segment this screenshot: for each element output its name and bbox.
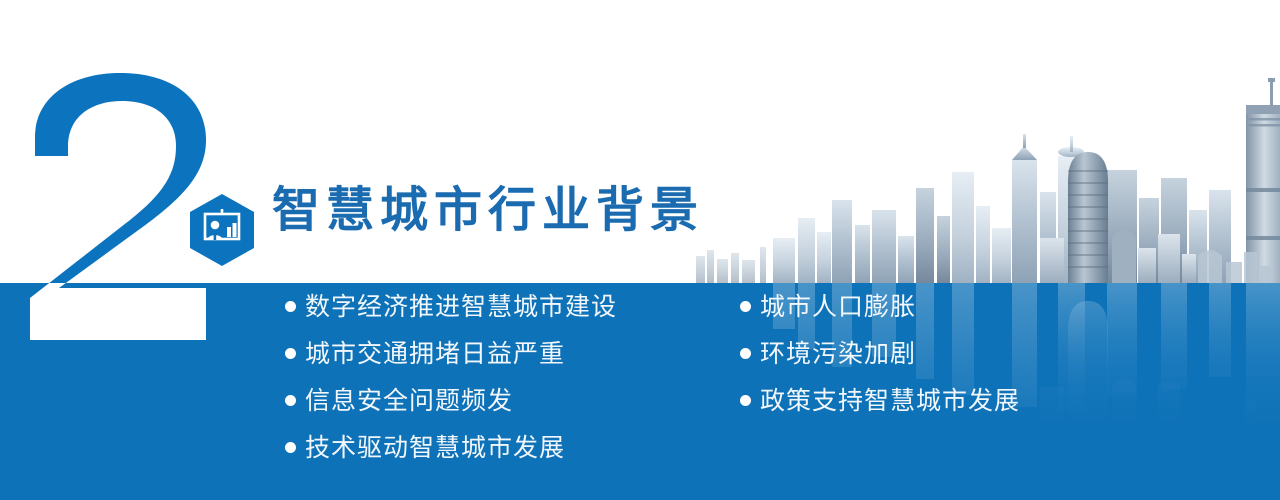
list-item[interactable]: 政策支持智慧城市发展 bbox=[740, 377, 1020, 424]
list-item-label: 政策支持智慧城市发展 bbox=[760, 388, 1020, 413]
bullet-dot-icon bbox=[285, 301, 296, 312]
list-item-label: 数字经济推进智慧城市建设 bbox=[305, 294, 617, 319]
list-item[interactable]: 技术驱动智慧城市发展 bbox=[285, 424, 617, 471]
bullet-dot-icon bbox=[285, 442, 296, 453]
list-item[interactable]: 城市交通拥堵日益严重 bbox=[285, 330, 617, 377]
bullet-dot-icon bbox=[285, 348, 296, 359]
list-item-label: 信息安全问题频发 bbox=[305, 388, 513, 413]
section-badge bbox=[186, 192, 258, 268]
list-item-label: 城市人口膨胀 bbox=[760, 294, 916, 319]
list-item-label: 技术驱动智慧城市发展 bbox=[305, 435, 565, 460]
bullet-dot-icon bbox=[740, 348, 751, 359]
bullet-column-right: 城市人口膨胀 环境污染加剧 政策支持智慧城市发展 bbox=[740, 283, 1020, 424]
list-item[interactable]: 环境污染加剧 bbox=[740, 330, 1020, 377]
city-skyline-silhouette bbox=[690, 60, 1280, 284]
list-item[interactable]: 数字经济推进智慧城市建设 bbox=[285, 283, 617, 330]
slide-canvas: 智慧城市行业背景 数字经济推进智慧城市建设 城市交通拥堵日益严重 信息安全问题频… bbox=[0, 0, 1280, 500]
list-item[interactable]: 城市人口膨胀 bbox=[740, 283, 1020, 330]
city-skyline-right-cluster bbox=[1040, 130, 1280, 284]
list-item-label: 环境污染加剧 bbox=[760, 341, 916, 366]
page-title: 智慧城市行业背景 bbox=[272, 186, 704, 234]
list-item[interactable]: 信息安全问题频发 bbox=[285, 377, 617, 424]
bullet-column-left: 数字经济推进智慧城市建设 城市交通拥堵日益严重 信息安全问题频发 技术驱动智慧城… bbox=[285, 283, 617, 471]
list-item-label: 城市交通拥堵日益严重 bbox=[305, 341, 565, 366]
bullet-dot-icon bbox=[740, 395, 751, 406]
bullet-dot-icon bbox=[285, 395, 296, 406]
bullet-lists: 数字经济推进智慧城市建设 城市交通拥堵日益严重 信息安全问题频发 技术驱动智慧城… bbox=[0, 283, 1280, 500]
bullet-dot-icon bbox=[740, 301, 751, 312]
